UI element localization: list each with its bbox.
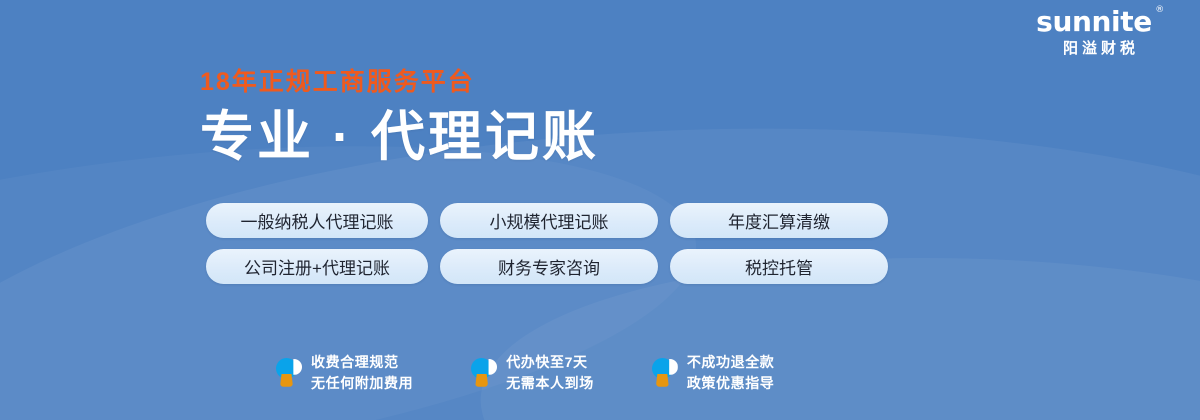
feature-item-guarantee: 不成功退全款 政策优惠指导 <box>652 352 775 393</box>
hero-eyebrow: 18年正规工商服务平台 <box>200 70 960 95</box>
service-pill-tax-control-hosting[interactable]: 税控托管 <box>670 249 888 284</box>
hero-copy: 18年正规工商服务平台 专业 · 代理记账 <box>200 70 960 166</box>
feature-item-pricing: 收费合理规范 无任何附加费用 <box>276 352 413 393</box>
service-pill-general-taxpayer[interactable]: 一般纳税人代理记账 <box>206 203 428 238</box>
feature-item-speed: 代办快至7天 无需本人到场 <box>471 352 594 393</box>
service-pill-row: 公司注册+代理记账 财务专家咨询 税控托管 <box>206 249 888 284</box>
feature-line-1: 不成功退全款 <box>687 354 775 370</box>
logo-wordmark: sunnite ® <box>1036 8 1162 36</box>
service-pill-grid: 一般纳税人代理记账 小规模代理记账 年度汇算清缴 公司注册+代理记账 财务专家咨… <box>206 203 888 284</box>
service-pill-annual-settlement[interactable]: 年度汇算清缴 <box>670 203 888 238</box>
feature-text: 收费合理规范 无任何附加费用 <box>311 352 413 393</box>
service-pill-row: 一般纳税人代理记账 小规模代理记账 年度汇算清缴 <box>206 203 888 238</box>
registered-trademark-icon: ® <box>1155 6 1164 15</box>
promo-banner: sunnite ® 阳溢财税 18年正规工商服务平台 专业 · 代理记账 一般纳… <box>0 0 1200 420</box>
feature-line-1: 代办快至7天 <box>506 354 587 370</box>
feature-line-2: 无需本人到场 <box>506 375 594 391</box>
page-title: 专业 · 代理记账 <box>200 109 960 166</box>
service-pill-small-scale[interactable]: 小规模代理记账 <box>440 203 658 238</box>
feature-line-2: 政策优惠指导 <box>687 375 775 391</box>
feature-text: 代办快至7天 无需本人到场 <box>506 352 594 393</box>
lightbulb-icon <box>652 357 678 389</box>
logo-subtitle: 阳溢财税 <box>1014 41 1184 56</box>
service-pill-finance-consulting[interactable]: 财务专家咨询 <box>440 249 658 284</box>
brand-logo[interactable]: sunnite ® 阳溢财税 <box>1014 8 1184 56</box>
service-pill-company-registration[interactable]: 公司注册+代理记账 <box>206 249 428 284</box>
feature-line-2: 无任何附加费用 <box>311 375 413 391</box>
feature-text: 不成功退全款 政策优惠指导 <box>687 352 775 393</box>
feature-strip: 收费合理规范 无任何附加费用 代办快至7天 无需本人到场 不成功退全款 <box>276 352 774 393</box>
lightbulb-icon <box>471 357 497 389</box>
feature-line-1: 收费合理规范 <box>311 354 399 370</box>
logo-wordmark-text: sunnite <box>1036 5 1152 38</box>
lightbulb-icon <box>276 357 302 389</box>
